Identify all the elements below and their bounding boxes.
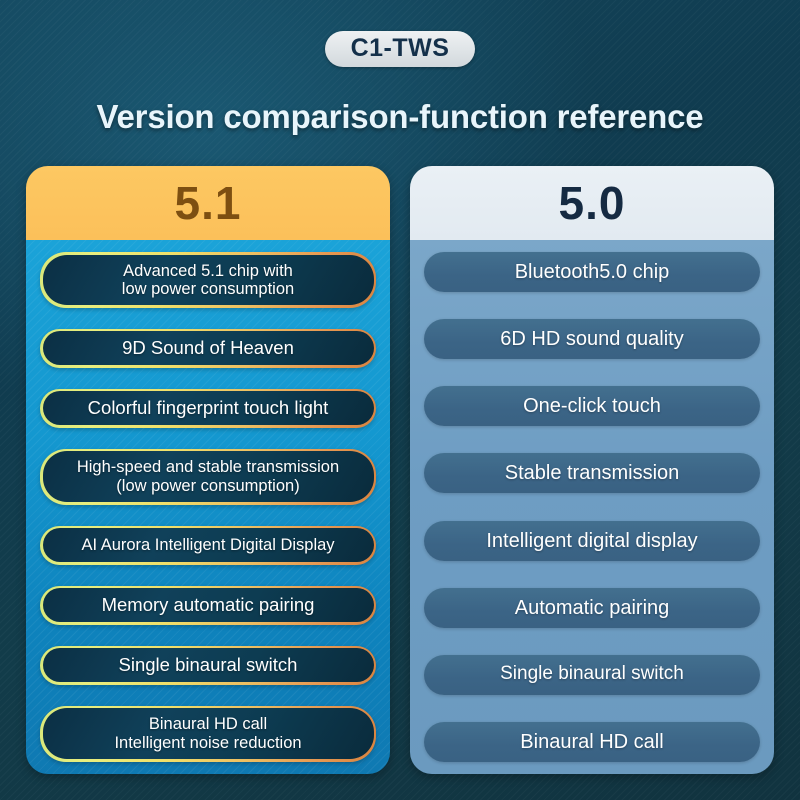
version-card-51-header: 5.1	[26, 166, 390, 240]
feature-pill[interactable]: Single binaural switch	[424, 655, 760, 695]
version-card-50: 5.0 Bluetooth5.0 chip 6D HD sound qualit…	[410, 166, 774, 774]
feature-pill[interactable]: AI Aurora Intelligent Digital Display	[40, 526, 376, 565]
feature-pill-text: Stable transmission	[505, 462, 680, 484]
comparison-infographic-page: C1-TWS Version comparison-function refer…	[0, 0, 800, 800]
feature-pill-text: Intelligent digital display	[486, 530, 697, 552]
feature-line-1: AI Aurora Intelligent Digital Display	[81, 537, 334, 555]
feature-line-1: Single binaural switch	[119, 655, 298, 675]
feature-pill-text: One-click touch	[523, 395, 661, 417]
feature-pill-text: Single binaural switch	[43, 648, 374, 682]
feature-line-1: High-speed and stable transmission	[77, 458, 339, 476]
feature-pill[interactable]: Binaural HD call Intelligent noise reduc…	[40, 706, 376, 762]
feature-line-1: 9D Sound of Heaven	[122, 338, 294, 358]
feature-pill[interactable]: High-speed and stable transmission (low …	[40, 449, 376, 505]
page-title: Version comparison-function reference	[0, 98, 800, 136]
feature-line-1: Binaural HD call	[114, 715, 301, 733]
version-label-51: 5.1	[175, 180, 242, 226]
feature-pill[interactable]: Intelligent digital display	[424, 521, 760, 561]
feature-pill[interactable]: Automatic pairing	[424, 588, 760, 628]
version-card-50-feature-list: Bluetooth5.0 chip 6D HD sound quality On…	[410, 240, 774, 774]
feature-line-1: Advanced 5.1 chip with	[122, 262, 294, 280]
feature-pill[interactable]: Single binaural switch	[40, 646, 376, 685]
feature-pill[interactable]: 9D Sound of Heaven	[40, 329, 376, 368]
feature-pill-text: 9D Sound of Heaven	[43, 331, 374, 365]
feature-pill-text: Binaural HD call Intelligent noise reduc…	[43, 708, 374, 759]
comparison-cards-row: 5.1 Advanced 5.1 chip with low power con…	[26, 166, 774, 774]
model-badge-container: C1-TWS	[0, 31, 800, 67]
feature-pill-text: Advanced 5.1 chip with low power consump…	[43, 255, 374, 306]
feature-line-1: Colorful fingerprint touch light	[88, 398, 329, 418]
feature-pill[interactable]: Memory automatic pairing	[40, 586, 376, 625]
feature-pill[interactable]: Bluetooth5.0 chip	[424, 252, 760, 292]
feature-pill-text: AI Aurora Intelligent Digital Display	[43, 528, 374, 562]
feature-pill[interactable]: 6D HD sound quality	[424, 319, 760, 359]
feature-pill-text: Bluetooth5.0 chip	[515, 261, 670, 283]
feature-pill-text: Binaural HD call	[520, 731, 663, 753]
feature-line-1: Memory automatic pairing	[102, 595, 315, 615]
feature-pill-text: Colorful fingerprint touch light	[43, 391, 374, 425]
version-card-51: 5.1 Advanced 5.1 chip with low power con…	[26, 166, 390, 774]
feature-pill-text: High-speed and stable transmission (low …	[43, 451, 374, 502]
feature-line-2: Intelligent noise reduction	[114, 734, 301, 752]
version-card-51-feature-list: Advanced 5.1 chip with low power consump…	[26, 240, 390, 774]
version-label-50: 5.0	[559, 180, 626, 226]
feature-pill-text: Single binaural switch	[500, 664, 684, 685]
feature-line-2: (low power consumption)	[77, 477, 339, 495]
feature-pill-text: Memory automatic pairing	[43, 588, 374, 622]
feature-pill[interactable]: One-click touch	[424, 386, 760, 426]
feature-pill[interactable]: Stable transmission	[424, 453, 760, 493]
feature-pill-text: Automatic pairing	[515, 597, 670, 619]
feature-line-2: low power consumption	[122, 280, 294, 298]
model-badge: C1-TWS	[325, 31, 476, 67]
feature-pill[interactable]: Binaural HD call	[424, 722, 760, 762]
feature-pill-text: 6D HD sound quality	[500, 328, 683, 350]
feature-pill[interactable]: Advanced 5.1 chip with low power consump…	[40, 252, 376, 308]
feature-pill[interactable]: Colorful fingerprint touch light	[40, 389, 376, 428]
version-card-50-header: 5.0	[410, 166, 774, 240]
